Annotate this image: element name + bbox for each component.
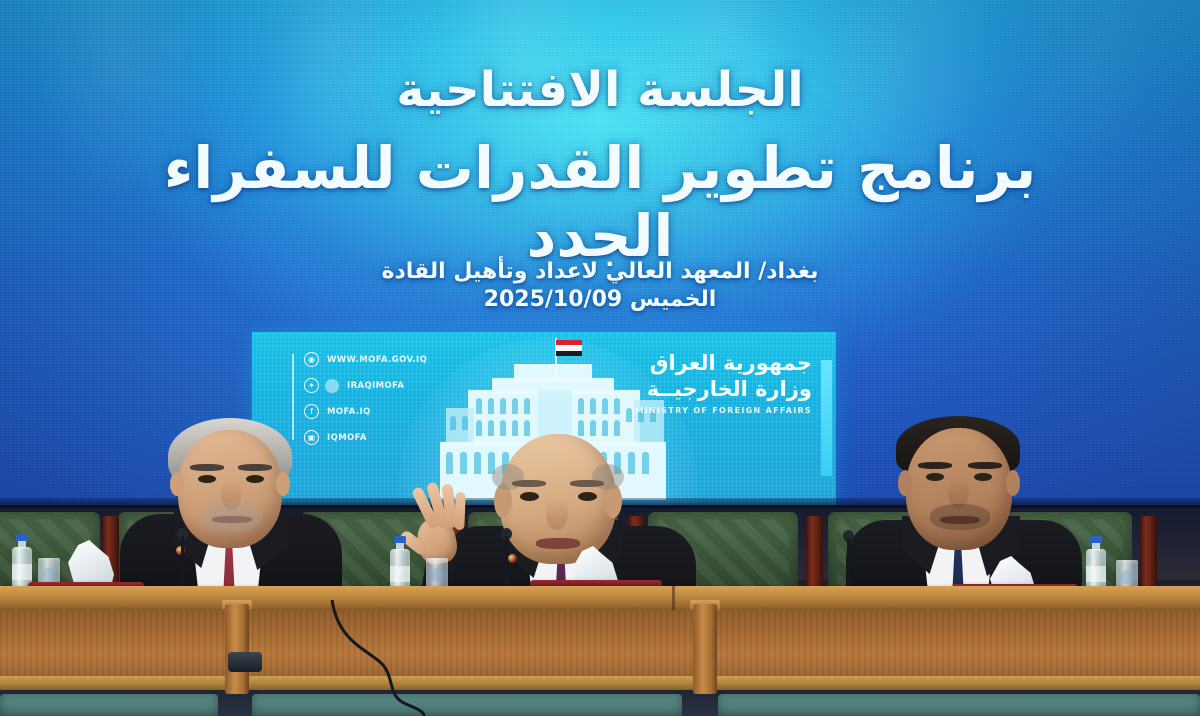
mouth (536, 538, 580, 549)
moustache (202, 502, 262, 532)
social-row[interactable]: ✦ IRAQIMOFA (304, 376, 454, 395)
finger (454, 492, 465, 530)
social-handle-label: MOFA.IQ (327, 407, 371, 417)
banner-accent-bar (821, 360, 832, 476)
eyebrow-right (238, 464, 272, 471)
ministry-english-label: MINISTRY OF FOREIGN AFFAIRS (636, 406, 813, 415)
facebook-icon: f (304, 404, 319, 419)
eyebrow-left (190, 464, 224, 471)
slide-title-line1: الجلسة الافتتاحية (0, 62, 1200, 118)
audience-seat (718, 694, 1200, 716)
social-secondary-dot (325, 379, 339, 393)
eye-right (578, 492, 597, 501)
desk-top-rail (0, 586, 1200, 612)
slide-subtitle-date: الخميس 2025/10/09 (0, 284, 1200, 316)
ear-left (170, 472, 184, 496)
social-row[interactable]: ◉ WWW.MOFA.GOV.IQ (304, 350, 454, 369)
social-handle-label: IRAQIMOFA (347, 381, 404, 391)
floor-microphone (228, 652, 262, 672)
pilaster (693, 604, 717, 694)
ministry-wordmark: جمهورية العراق وزارة الخارجيــة MINISTRY… (636, 350, 813, 415)
iraqi-flag-icon (556, 340, 582, 356)
audience-seat (0, 694, 218, 716)
microphone-cable (320, 600, 520, 716)
eye-left (520, 492, 539, 501)
eye-right (974, 473, 992, 481)
nose (546, 498, 568, 530)
eyebrow-right (968, 462, 1002, 469)
eyebrow-left (918, 462, 952, 469)
slide-title-line2: برنامج تطوير القدرات للسفراء الجدد (0, 134, 1200, 271)
ear-left (898, 470, 912, 496)
pilaster (225, 604, 249, 694)
eyebrow-left (512, 480, 546, 487)
ministry-arabic-line2: وزارة الخارجيــة (636, 376, 813, 402)
social-row[interactable]: f MOFA.IQ (304, 402, 454, 421)
eye-left (926, 473, 944, 481)
moustache (930, 504, 990, 530)
social-handle-label: WWW.MOFA.GOV.IQ (327, 355, 427, 365)
ear-right (1006, 470, 1020, 496)
desk-front-panel (0, 610, 1200, 686)
globe-icon: ◉ (304, 352, 319, 367)
ministry-arabic-line1: جمهورية العراق (636, 350, 813, 376)
twitter-icon: ✦ (304, 378, 319, 393)
eyebrow-right (570, 480, 604, 487)
wood-grain (0, 610, 1200, 686)
ear-right (276, 472, 290, 496)
eye-right (246, 475, 264, 483)
eye-left (198, 475, 216, 483)
chair-post (1140, 516, 1157, 596)
chair-post (806, 516, 823, 596)
press-conference-photo: الجلسة الافتتاحية برنامج تطوير القدرات ل… (0, 0, 1200, 716)
